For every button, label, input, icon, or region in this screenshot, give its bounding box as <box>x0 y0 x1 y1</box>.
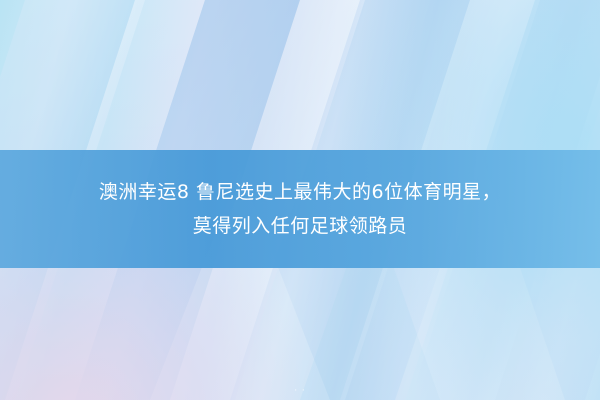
image-banner: 澳洲幸运8 鲁尼选史上最伟大的6位体育明星， 莫得列入任何足球领路员 · · <box>0 0 600 400</box>
footer-watermark: · · <box>0 386 600 396</box>
caption-text: 澳洲幸运8 鲁尼选史上最伟大的6位体育明星， 莫得列入任何足球领路员 <box>40 175 560 243</box>
caption-line-2: 莫得列入任何足球领路员 <box>40 209 560 243</box>
caption-band: 澳洲幸运8 鲁尼选史上最伟大的6位体育明星， 莫得列入任何足球领路员 <box>0 150 600 268</box>
caption-line-1: 澳洲幸运8 鲁尼选史上最伟大的6位体育明星， <box>40 175 560 209</box>
